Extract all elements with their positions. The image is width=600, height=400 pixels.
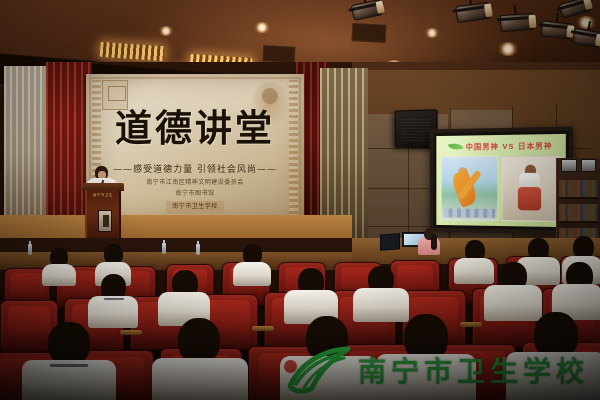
av-operator-hair [431, 234, 437, 250]
podium-plate [98, 210, 112, 232]
gymnast-photo-right [501, 155, 560, 221]
podium: 南宁市卫生学校 [82, 183, 124, 245]
audience-shirt [454, 258, 494, 284]
downlight [253, 22, 271, 33]
slide-images [441, 155, 561, 221]
downlight [158, 26, 174, 36]
downlight [575, 16, 597, 29]
slide-title-right: 日本男神 [518, 141, 552, 151]
audience-shirt [88, 296, 138, 328]
shelf-display-objects [561, 156, 596, 172]
audience-collar [104, 298, 124, 300]
downlight [497, 42, 519, 56]
slide-title-vs: VS [502, 141, 514, 150]
water-bottle [196, 244, 200, 255]
seat-armrest [120, 330, 142, 335]
audience-shirt [280, 356, 378, 400]
leaf-icon [448, 141, 464, 152]
projection-screen: 中国男神 VS 日本男神 [430, 127, 573, 235]
podium-front-text: 南宁市卫生学校 [92, 192, 114, 198]
downlight [424, 28, 440, 38]
shelf-object [561, 159, 577, 172]
organizer-line: 南宁市卫生学校 [166, 201, 224, 214]
banner-subtitle: ——感受道德力量 引领社会风尚—— [86, 162, 304, 175]
audience-shirt [376, 354, 476, 400]
ceiling-vent [263, 45, 296, 63]
audience-shirt [233, 262, 271, 286]
audience-collar [50, 364, 88, 367]
stage-spotlight [540, 20, 573, 39]
auditorium-photo: 道德讲堂 ——感受道德力量 引领社会风尚—— 南宁市江南区精神文明建设委员会 南… [0, 0, 600, 400]
secondary-laptop [380, 233, 400, 250]
photo-footer-strip [444, 208, 495, 218]
seat-armrest [252, 326, 274, 331]
audience-shirt [353, 288, 409, 322]
audience-shirt [506, 352, 600, 400]
athlete-legs [518, 187, 541, 210]
audience-shirt [152, 358, 248, 400]
audience-shirt [42, 264, 76, 286]
book-row [559, 180, 598, 199]
shelf-object [581, 159, 597, 172]
podium-emblem-icon [103, 215, 109, 227]
water-bottle [28, 244, 32, 255]
seat-armrest [460, 322, 482, 327]
slide-title-left: 中国男神 [466, 142, 499, 151]
ceiling-vent [352, 23, 387, 43]
projected-slide: 中国男神 VS 日本男神 [436, 134, 565, 227]
stage-spotlight [499, 13, 534, 32]
water-bottle [162, 243, 166, 254]
slide-title: 中国男神 VS 日本男神 [466, 140, 553, 152]
gymnast-photo-left [441, 156, 497, 221]
book-row [559, 204, 598, 223]
banner-main-title: 道德讲堂 [86, 110, 304, 147]
slide-header: 中国男神 VS 日本男神 [436, 137, 565, 155]
audience-shirt [484, 285, 542, 321]
podium-body: 南宁市卫生学校 [85, 190, 121, 245]
